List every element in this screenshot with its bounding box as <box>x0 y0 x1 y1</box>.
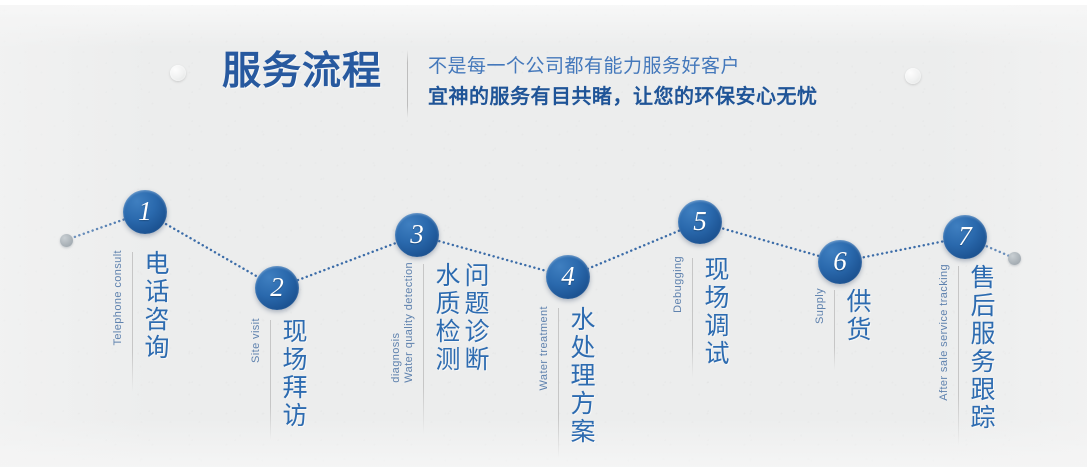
dotted-connector-path <box>66 212 1014 288</box>
top-edge-strip <box>0 0 1087 5</box>
process-node-number: 5 <box>693 208 707 237</box>
process-label-en-group: Water quality detectiondiagnosis <box>390 262 416 383</box>
bottom-edge-strip <box>0 467 1087 475</box>
banner-header: 服务流程 不是每一个公司都有能力服务好客户 宜神的服务有目共睹，让您的环保安心无… <box>222 48 818 118</box>
process-node-number: 1 <box>138 198 152 227</box>
process-label-en-group: Supply <box>814 288 827 324</box>
process-label-4[interactable]: Water treatment水处理方案 <box>538 306 595 458</box>
process-label-7[interactable]: After sale service tracking售后服务跟踪 <box>938 264 995 446</box>
process-label-cn: 现场拜访 <box>278 318 307 430</box>
process-label-5[interactable]: Debugging现场调试 <box>672 256 729 378</box>
process-label-cn: 电话咨询 <box>140 250 169 362</box>
process-node-5[interactable]: 5 <box>678 200 722 244</box>
title-divider <box>407 50 408 118</box>
process-label-rule <box>132 252 133 392</box>
process-label-en-group: After sale service tracking <box>938 264 951 401</box>
process-label-rule <box>834 290 835 370</box>
process-node-number: 6 <box>833 248 847 277</box>
process-label-3[interactable]: Water quality detectiondiagnosis问题诊断水质检测 <box>390 262 489 434</box>
process-label-cn: 供货 <box>842 288 871 344</box>
process-label-en: Site visit <box>250 318 263 363</box>
process-label-en-group: Site visit <box>250 318 263 363</box>
decorative-dot-left <box>170 65 186 81</box>
process-label-cn-group: 水处理方案 <box>566 306 595 446</box>
process-node-7[interactable]: 7 <box>943 215 987 259</box>
process-label-rule <box>423 264 424 434</box>
process-label-en-group: Water treatment <box>538 306 551 390</box>
subtitle-line-1: 不是每一个公司都有能力服务好客户 <box>428 52 818 82</box>
process-label-cn-group: 售后服务跟踪 <box>966 264 995 432</box>
process-node-1[interactable]: 1 <box>123 190 167 234</box>
process-node-number: 3 <box>410 221 424 250</box>
process-label-cn-group: 供货 <box>842 288 871 344</box>
process-label-cn-group: 电话咨询 <box>140 250 169 362</box>
process-label-en: After sale service tracking <box>938 264 951 401</box>
flow-end-dot <box>1008 252 1021 265</box>
process-label-cn: 问题诊断 <box>460 262 489 374</box>
process-label-en: Debugging <box>672 256 685 313</box>
process-label-1[interactable]: Telephone consult电话咨询 <box>112 250 169 392</box>
process-label-rule <box>958 266 959 446</box>
process-label-cn: 现场调试 <box>700 256 729 368</box>
process-label-en: Water treatment <box>538 306 551 390</box>
decorative-dot-right <box>905 68 921 84</box>
subtitle-block: 不是每一个公司都有能力服务好客户 宜神的服务有目共睹，让您的环保安心无忧 <box>428 48 818 113</box>
process-node-number: 2 <box>270 274 284 303</box>
page-title: 服务流程 <box>222 48 382 96</box>
process-label-2[interactable]: Site visit现场拜访 <box>250 318 307 440</box>
subtitle-line-2: 宜神的服务有目共睹，让您的环保安心无忧 <box>428 82 818 113</box>
process-node-2[interactable]: 2 <box>255 266 299 310</box>
process-label-rule <box>692 258 693 378</box>
process-node-3[interactable]: 3 <box>395 213 439 257</box>
process-label-en: Supply <box>814 288 827 324</box>
process-label-en-group: Debugging <box>672 256 685 313</box>
process-label-en: Water quality detection <box>403 262 416 383</box>
process-label-rule <box>270 320 271 440</box>
process-label-rule <box>558 308 559 458</box>
process-label-cn-group: 现场调试 <box>700 256 729 368</box>
flow-start-dot <box>60 234 73 247</box>
process-label-cn: 售后服务跟踪 <box>966 264 995 432</box>
process-label-6[interactable]: Supply供货 <box>814 288 871 370</box>
process-node-number: 4 <box>561 263 575 292</box>
process-node-number: 7 <box>958 223 972 252</box>
process-label-en: Telephone consult <box>112 250 125 345</box>
process-label-cn: 水处理方案 <box>566 306 595 446</box>
process-label-cn-group: 问题诊断水质检测 <box>431 262 489 374</box>
process-node-4[interactable]: 4 <box>546 255 590 299</box>
process-label-cn: 水质检测 <box>431 262 460 374</box>
service-process-banner: 服务流程 不是每一个公司都有能力服务好客户 宜神的服务有目共睹，让您的环保安心无… <box>0 0 1087 475</box>
process-label-cn-group: 现场拜访 <box>278 318 307 430</box>
process-node-6[interactable]: 6 <box>818 240 862 284</box>
process-label-en: diagnosis <box>390 262 403 383</box>
process-label-en-group: Telephone consult <box>112 250 125 345</box>
